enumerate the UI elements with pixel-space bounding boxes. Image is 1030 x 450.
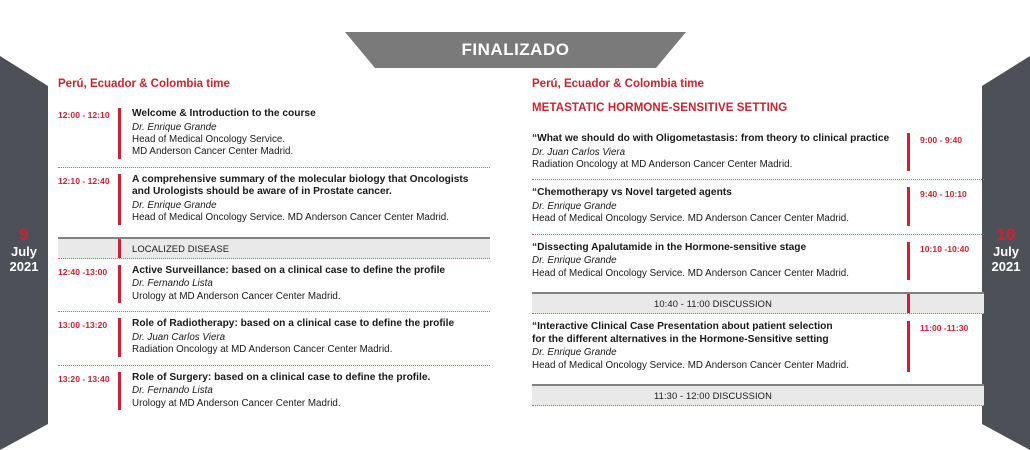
red-accent-bar bbox=[907, 321, 910, 372]
session-title: “Interactive Clinical Case Presentation … bbox=[532, 321, 897, 334]
session-row: “Chemotherapy vs Novel targeted agents D… bbox=[532, 180, 984, 234]
date-month-left: July bbox=[0, 244, 48, 259]
red-accent-bar bbox=[907, 187, 910, 225]
session-speaker: Dr. Juan Carlos Viera bbox=[132, 332, 490, 344]
session-speaker: Dr. Enrique Grande bbox=[532, 201, 897, 213]
agenda-column-day-9: Perú, Ecuador & Colombia time 12:00 - 12… bbox=[58, 78, 490, 418]
discussion-band-2: 11:30 - 12:00 DISCUSSION bbox=[532, 384, 984, 406]
status-ribbon: FINALIZADO bbox=[345, 32, 686, 68]
session-speaker: Dr. Enrique Grande bbox=[132, 200, 490, 212]
session-speaker: Dr. Juan Carlos Viera bbox=[532, 147, 897, 159]
session-time: 12:10 - 12:40 bbox=[58, 174, 118, 225]
session-body: “Chemotherapy vs Novel targeted agents D… bbox=[532, 187, 907, 225]
session-row: 12:00 - 12:10 Welcome & Introduction to … bbox=[58, 102, 490, 168]
red-accent-bar bbox=[907, 133, 910, 171]
discussion-band-1: 10:40 - 11:00 DISCUSSION bbox=[532, 292, 984, 314]
session-body: Welcome & Introduction to the course Dr.… bbox=[132, 108, 490, 159]
red-accent-bar bbox=[907, 242, 910, 280]
red-accent-bar bbox=[118, 265, 121, 303]
section-band-localized-disease: LOCALIZED DISEASE bbox=[58, 237, 490, 259]
red-accent-bar bbox=[907, 294, 910, 313]
session-title: Role of Radiotherapy: based on a clinica… bbox=[132, 318, 490, 331]
date-banner-right: 10 July 2021 bbox=[982, 30, 1030, 450]
session-title: “Chemotherapy vs Novel targeted agents bbox=[532, 187, 897, 200]
session-affiliation: Head of Medical Oncology Service. MD And… bbox=[132, 212, 490, 224]
session-row: “Dissecting Apalutamide in the Hormone-s… bbox=[532, 235, 984, 288]
session-affiliation: Head of Medical Oncology Service. MD And… bbox=[532, 213, 897, 225]
session-row: 13:00 -13:20 Role of Radiotherapy: based… bbox=[58, 312, 490, 365]
date-banner-left: 9 July 2021 bbox=[0, 30, 48, 450]
session-speaker: Dr. Enrique Grande bbox=[132, 122, 490, 134]
session-body: Active Surveillance: based on a clinical… bbox=[132, 265, 490, 303]
session-time: 11:00 -11:30 bbox=[920, 321, 984, 372]
session-body: Role of Radiotherapy: based on a clinica… bbox=[132, 318, 490, 356]
session-time: 12:40 -13:00 bbox=[58, 265, 118, 303]
session-title-2: and Urologists should be aware of in Pro… bbox=[132, 186, 490, 199]
date-year-right: 2021 bbox=[982, 259, 1030, 274]
red-accent-bar bbox=[118, 174, 121, 225]
session-body: Role of Surgery: based on a clinical cas… bbox=[132, 372, 490, 410]
session-time: 9:00 - 9:40 bbox=[920, 133, 984, 171]
session-title-2: for the different alternatives in the Ho… bbox=[532, 334, 897, 347]
discussion-band-label: 11:30 - 12:00 DISCUSSION bbox=[532, 390, 984, 401]
session-body: “What we should do with Oligometastasis:… bbox=[532, 133, 907, 171]
session-title: Active Surveillance: based on a clinical… bbox=[132, 265, 490, 278]
session-time: 12:00 - 12:10 bbox=[58, 108, 118, 159]
date-day-right: 10 bbox=[982, 226, 1030, 244]
session-body: “Interactive Clinical Case Presentation … bbox=[532, 321, 907, 372]
status-badge: FINALIZADO bbox=[462, 40, 570, 60]
red-accent-bar bbox=[118, 239, 121, 258]
session-affiliation: Head of Medical Oncology Service. bbox=[132, 134, 490, 146]
red-accent-bar bbox=[118, 372, 121, 410]
session-affiliation: Urology at MD Anderson Cancer Center Mad… bbox=[132, 398, 490, 410]
session-time: 9:40 - 10:10 bbox=[920, 187, 984, 225]
agenda-page: 9 July 2021 10 July 2021 FINALIZADO Perú… bbox=[0, 0, 1030, 450]
session-title: “What we should do with Oligometastasis:… bbox=[532, 133, 897, 146]
session-affiliation: Head of Medical Oncology Service. MD And… bbox=[532, 268, 897, 280]
section-band-label: LOCALIZED DISEASE bbox=[132, 243, 229, 254]
session-speaker: Dr. Fernando Lista bbox=[132, 278, 490, 290]
session-speaker: Dr. Fernando Lista bbox=[132, 385, 490, 397]
date-month-right: July bbox=[982, 244, 1030, 259]
session-title: Welcome & Introduction to the course bbox=[132, 108, 490, 121]
session-affiliation: Radiation Oncology at MD Anderson Cancer… bbox=[132, 344, 490, 356]
agenda-column-day-10: Perú, Ecuador & Colombia time METASTATIC… bbox=[532, 78, 984, 406]
session-row: 12:10 - 12:40 A comprehensive summary of… bbox=[58, 168, 490, 233]
session-affiliation: Urology at MD Anderson Cancer Center Mad… bbox=[132, 291, 490, 303]
session-body: A comprehensive summary of the molecular… bbox=[132, 174, 490, 225]
section-header-metastatic: METASTATIC HORMONE-SENSITIVE SETTING bbox=[532, 102, 984, 114]
session-affiliation-2: MD Anderson Cancer Center Madrid. bbox=[132, 146, 490, 158]
date-year-left: 2021 bbox=[0, 259, 48, 274]
red-accent-bar bbox=[118, 108, 121, 159]
timezone-header-left: Perú, Ecuador & Colombia time bbox=[58, 78, 490, 90]
session-row: 13:20 - 13:40 Role of Surgery: based on … bbox=[58, 366, 490, 418]
date-banner-right-inner: 10 July 2021 bbox=[982, 226, 1030, 274]
session-title: Role of Surgery: based on a clinical cas… bbox=[132, 372, 490, 385]
date-banner-left-inner: 9 July 2021 bbox=[0, 226, 48, 274]
session-row: “Interactive Clinical Case Presentation … bbox=[532, 314, 984, 380]
session-time: 10:10 -10:40 bbox=[920, 242, 984, 280]
session-affiliation: Radiation Oncology at MD Anderson Cancer… bbox=[532, 159, 897, 171]
session-row: 12:40 -13:00 Active Surveillance: based … bbox=[58, 259, 490, 312]
session-time: 13:00 -13:20 bbox=[58, 318, 118, 356]
session-title: A comprehensive summary of the molecular… bbox=[132, 174, 490, 187]
session-body: “Dissecting Apalutamide in the Hormone-s… bbox=[532, 242, 907, 280]
date-day-left: 9 bbox=[0, 226, 48, 244]
session-time: 13:20 - 13:40 bbox=[58, 372, 118, 410]
session-speaker: Dr. Enrique Grande bbox=[532, 255, 897, 267]
session-affiliation: Head of Medical Oncology Service. MD And… bbox=[532, 360, 897, 372]
session-row: “What we should do with Oligometastasis:… bbox=[532, 126, 984, 180]
discussion-band-label: 10:40 - 11:00 DISCUSSION bbox=[532, 298, 984, 309]
red-accent-bar bbox=[118, 318, 121, 356]
timezone-header-right: Perú, Ecuador & Colombia time bbox=[532, 78, 984, 90]
session-speaker: Dr. Enrique Grande bbox=[532, 347, 897, 359]
session-title: “Dissecting Apalutamide in the Hormone-s… bbox=[532, 242, 897, 255]
